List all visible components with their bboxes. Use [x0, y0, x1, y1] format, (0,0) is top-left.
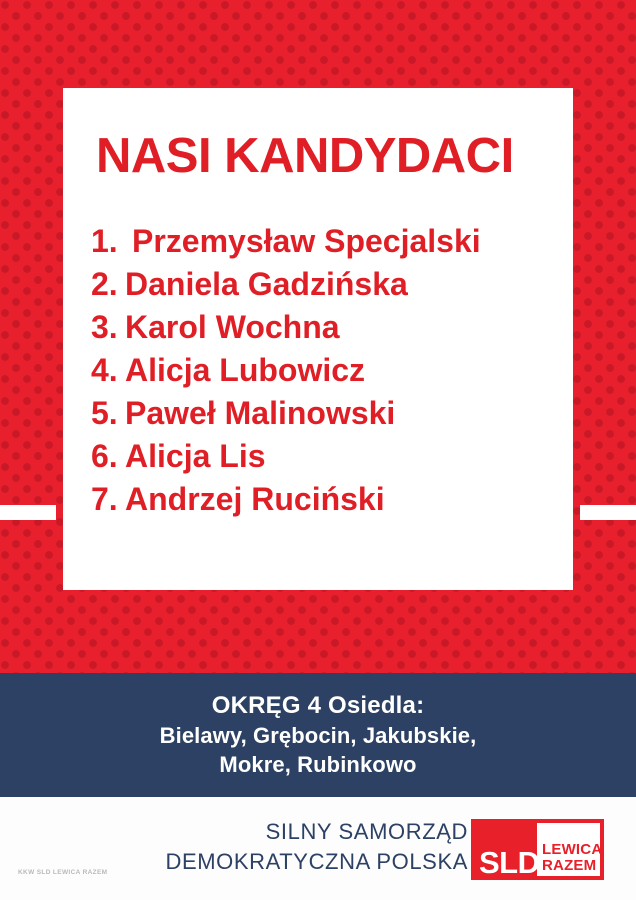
- sld-logo-white-box: LEWICA RAZEM: [537, 823, 600, 876]
- candidate-name: Daniela Gadzińska: [125, 263, 408, 306]
- list-item: 5.Paweł Malinowski: [91, 392, 561, 435]
- election-committee-note: KKW SLD LEWICA RAZEM: [18, 869, 107, 876]
- candidate-name: Paweł Malinowski: [125, 392, 395, 435]
- list-item: 6.Alicja Lis: [91, 435, 561, 478]
- page-title: NASI KANDYDACI: [96, 128, 514, 184]
- sld-logo-wordmark: SLD: [479, 847, 540, 878]
- district-neighborhoods-line-2: Mokre, Rubinkowo: [219, 750, 416, 779]
- list-item: 2.Daniela Gadzińska: [91, 263, 561, 306]
- district-band: OKRĘG 4 Osiedla: Bielawy, Grębocin, Jaku…: [0, 673, 636, 797]
- campaign-slogan: SILNY SAMORZĄD DEMOKRATYCZNA POLSKA: [165, 817, 468, 877]
- list-item: 4.Alicja Lubowicz: [91, 349, 561, 392]
- candidate-name: Andrzej Ruciński: [125, 478, 385, 521]
- candidate-number: 7.: [91, 478, 125, 521]
- sld-logo: SLD LEWICA RAZEM: [471, 819, 604, 880]
- list-item: 7.Andrzej Ruciński: [91, 478, 561, 521]
- candidate-name: Alicja Lis: [125, 435, 266, 478]
- candidate-number: 6.: [91, 435, 125, 478]
- slogan-line-2: DEMOKRATYCZNA POLSKA: [165, 847, 468, 877]
- list-item: 1.Przemysław Specjalski: [91, 220, 561, 263]
- left-edge-accent-bar: [0, 505, 56, 520]
- candidate-name: Przemysław Specjalski: [132, 220, 481, 263]
- right-edge-accent-bar: [580, 505, 636, 520]
- candidate-number: 5.: [91, 392, 125, 435]
- sld-logo-lewica-text: LEWICA: [542, 841, 602, 858]
- list-item: 3.Karol Wochna: [91, 306, 561, 349]
- campaign-poster: NASI KANDYDACI 1.Przemysław Specjalski2.…: [0, 0, 636, 900]
- sld-logo-razem-text: RAZEM: [542, 857, 596, 874]
- district-neighborhoods-line-1: Bielawy, Grębocin, Jakubskie,: [160, 721, 477, 750]
- district-title: OKRĘG 4 Osiedla:: [212, 691, 425, 721]
- candidates-panel: NASI KANDYDACI 1.Przemysław Specjalski2.…: [63, 88, 573, 590]
- candidate-number: 4.: [91, 349, 125, 392]
- candidates-panel-inner: NASI KANDYDACI 1.Przemysław Specjalski2.…: [63, 88, 573, 590]
- candidate-number: 1.: [91, 220, 132, 263]
- slogan-line-1: SILNY SAMORZĄD: [165, 817, 468, 847]
- candidate-name: Karol Wochna: [125, 306, 340, 349]
- candidate-number: 2.: [91, 263, 125, 306]
- candidate-name: Alicja Lubowicz: [125, 349, 365, 392]
- candidate-list: 1.Przemysław Specjalski2.Daniela Gadzińs…: [91, 220, 561, 521]
- candidate-number: 3.: [91, 306, 125, 349]
